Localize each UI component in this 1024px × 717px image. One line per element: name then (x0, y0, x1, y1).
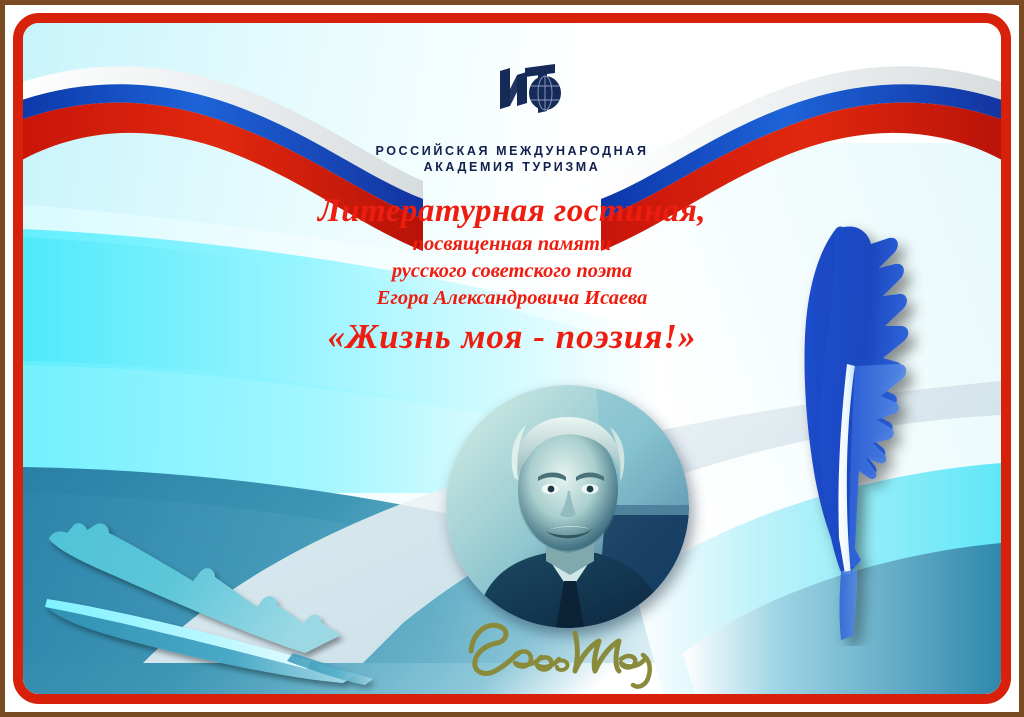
rmat-monogram-logo (497, 59, 563, 121)
frame-red-border: РОССИЙСКАЯ МЕЖДУНАРОДНАЯ АКАДЕМИЯ ТУРИЗМ… (13, 13, 1011, 704)
title-main: Литературная гостиная, (23, 191, 1001, 231)
title-sub-3: Егора Александровича Исаева (23, 285, 1001, 312)
organization-line-1: РОССИЙСКАЯ МЕЖДУНАРОДНАЯ (23, 143, 1001, 159)
title-block: Литературная гостиная, посвященная памят… (23, 191, 1001, 361)
globe-icon (529, 76, 561, 110)
organization-name: РОССИЙСКАЯ МЕЖДУНАРОДНАЯ АКАДЕМИЯ ТУРИЗМ… (23, 143, 1001, 175)
poet-signature (453, 611, 683, 691)
title-quote: «Жизнь моя - поэзия!» (23, 313, 1001, 361)
poster-canvas: РОССИЙСКАЯ МЕЖДУНАРОДНАЯ АКАДЕМИЯ ТУРИЗМ… (23, 23, 1001, 694)
title-sub-1: посвященная памяти (23, 231, 1001, 258)
poster: РОССИЙСКАЯ МЕЖДУНАРОДНАЯ АКАДЕМИЯ ТУРИЗМ… (0, 0, 1024, 717)
title-sub-2: русского советского поэта (23, 258, 1001, 285)
organization-line-2: АКАДЕМИЯ ТУРИЗМА (23, 159, 1001, 175)
poet-portrait (446, 385, 689, 628)
